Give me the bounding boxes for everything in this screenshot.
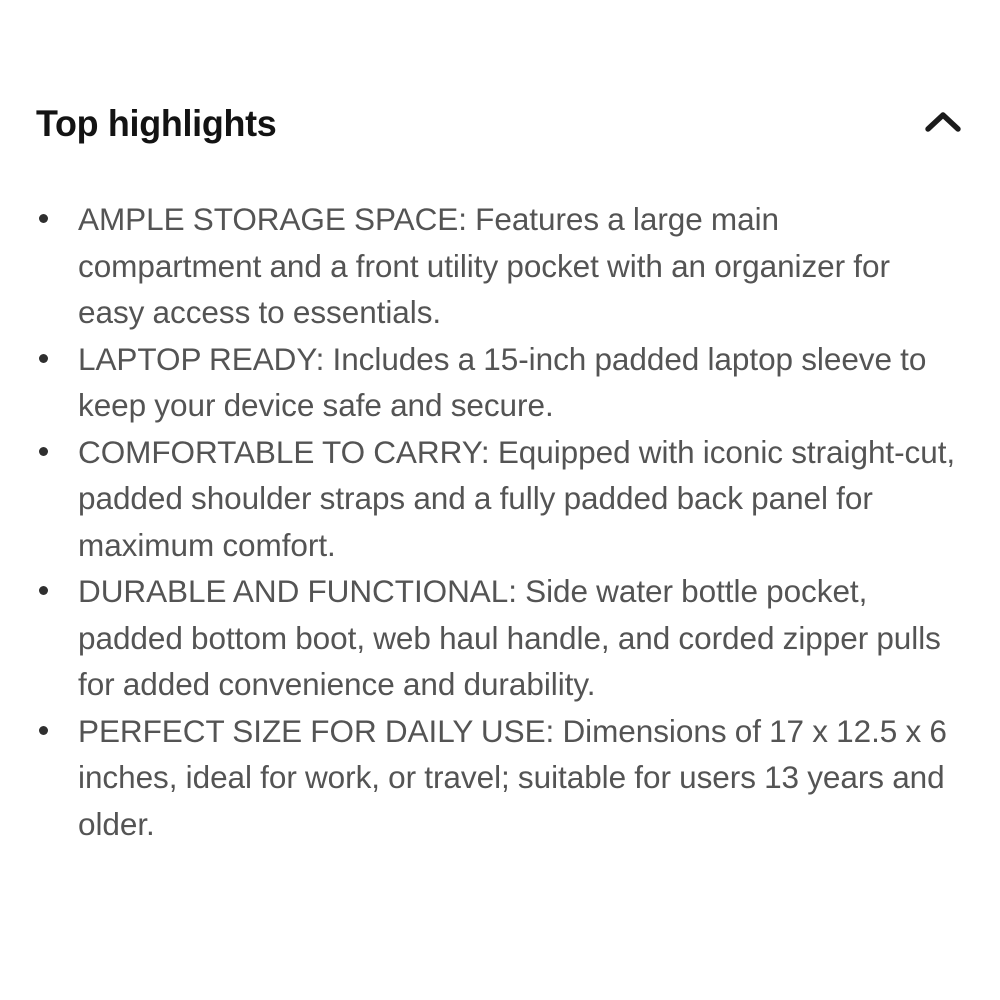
list-item-text: DURABLE AND FUNCTIONAL: Side water bottl… [78, 568, 964, 708]
bullet-dot-icon [39, 586, 48, 595]
highlights-list: AMPLE STORAGE SPACE: Features a large ma… [36, 196, 964, 847]
list-item: AMPLE STORAGE SPACE: Features a large ma… [36, 196, 964, 336]
list-item-text: AMPLE STORAGE SPACE: Features a large ma… [78, 196, 964, 336]
list-item-text: COMFORTABLE TO CARRY: Equipped with icon… [78, 429, 964, 569]
list-item-text: LAPTOP READY: Includes a 15-inch padded … [78, 336, 964, 429]
list-item-text: PERFECT SIZE FOR DAILY USE: Dimensions o… [78, 708, 964, 848]
chevron-up-icon [921, 102, 965, 146]
bullet-dot-icon [39, 214, 48, 223]
top-highlights-panel: Top highlights AMPLE STORAGE SPACE: Feat… [0, 0, 1000, 1000]
section-header: Top highlights [36, 98, 964, 150]
list-item: COMFORTABLE TO CARRY: Equipped with icon… [36, 429, 964, 569]
list-item: DURABLE AND FUNCTIONAL: Side water bottl… [36, 568, 964, 708]
page-title: Top highlights [36, 102, 276, 146]
bullet-dot-icon [39, 447, 48, 456]
list-item: LAPTOP READY: Includes a 15-inch padded … [36, 336, 964, 429]
bullet-dot-icon [39, 726, 48, 735]
bullet-dot-icon [39, 354, 48, 363]
list-item: PERFECT SIZE FOR DAILY USE: Dimensions o… [36, 708, 964, 848]
collapse-section-button[interactable] [920, 101, 966, 147]
